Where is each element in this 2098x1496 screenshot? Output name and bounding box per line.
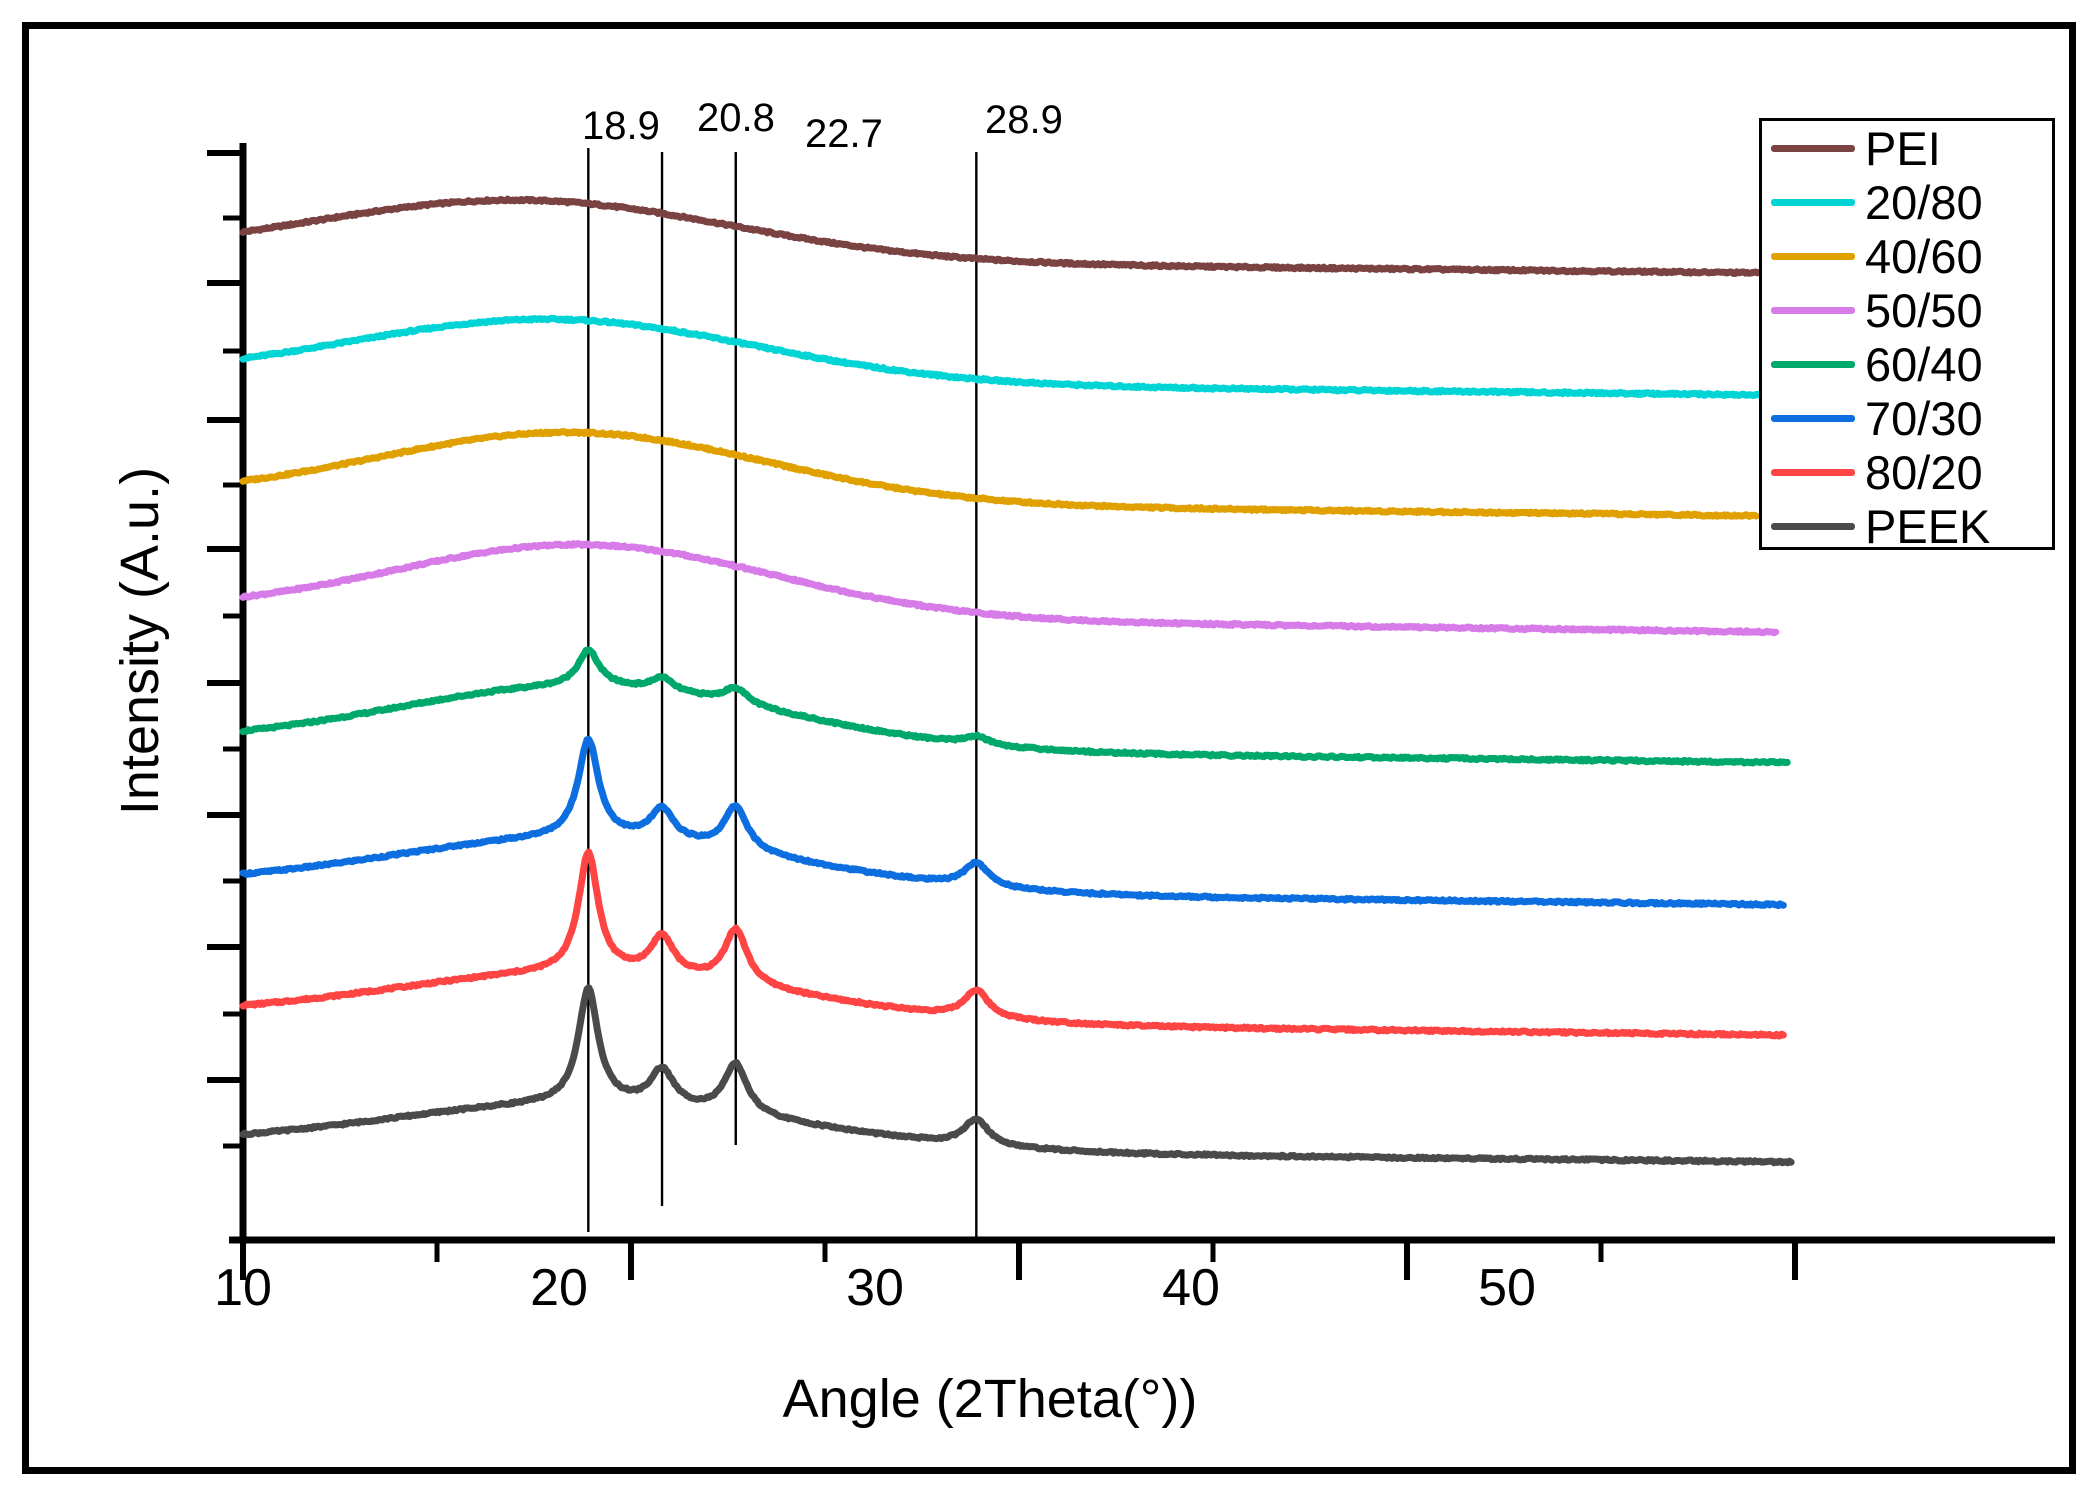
x-tick-label-50: 50 — [1457, 1258, 1557, 1318]
legend-item-label: 80/20 — [1865, 449, 1983, 496]
chart-legend: PEI20/8040/6050/5060/4070/3080/20PEEK — [1759, 118, 2055, 550]
legend-swatch-icon — [1771, 253, 1855, 260]
y-axis-title: Intensity (A.u.) — [109, 441, 171, 841]
legend-item-80-20[interactable]: 80/20 — [1762, 445, 2052, 499]
x-tick-label-10: 10 — [193, 1258, 293, 1318]
data-curve-20-80 — [243, 318, 1772, 396]
x-tick-label-20: 20 — [509, 1258, 609, 1318]
legend-item-label: 50/50 — [1865, 287, 1983, 334]
legend-item-40-60[interactable]: 40/60 — [1762, 229, 2052, 283]
peak-label-28-9: 28.9 — [985, 98, 1063, 143]
data-curve-60-40 — [243, 650, 1787, 763]
legend-item-label: 60/40 — [1865, 341, 1983, 388]
legend-item-pei[interactable]: PEI — [1762, 121, 2052, 175]
x-axis-title: Angle (2Theta(°)) — [640, 1368, 1340, 1430]
legend-item-50-50[interactable]: 50/50 — [1762, 283, 2052, 337]
legend-swatch-icon — [1771, 469, 1855, 476]
legend-swatch-icon — [1771, 361, 1855, 368]
legend-swatch-icon — [1771, 523, 1855, 530]
legend-item-20-80[interactable]: 20/80 — [1762, 175, 2052, 229]
data-curve-40-60 — [243, 432, 1756, 517]
legend-item-peek[interactable]: PEEK — [1762, 499, 2052, 553]
peak-label-20-8: 20.8 — [697, 96, 775, 141]
data-curve-80-20 — [243, 852, 1783, 1036]
xrd-figure-page: 18.9 20.8 22.7 28.9 10 20 30 40 50 Angle… — [0, 0, 2098, 1496]
legend-item-60-40[interactable]: 60/40 — [1762, 337, 2052, 391]
legend-item-label: 20/80 — [1865, 179, 1983, 226]
legend-swatch-icon — [1771, 199, 1855, 206]
legend-item-label: 40/60 — [1865, 233, 1983, 280]
legend-swatch-icon — [1771, 145, 1855, 152]
peak-label-18-9: 18.9 — [582, 104, 660, 149]
data-curve-70-30 — [243, 739, 1783, 905]
data-curve-pei — [243, 199, 1779, 274]
legend-item-label: PEEK — [1865, 503, 1990, 550]
legend-item-70-30[interactable]: 70/30 — [1762, 391, 2052, 445]
data-curve-50-50 — [243, 544, 1776, 633]
peak-label-22-7: 22.7 — [805, 112, 883, 157]
legend-item-label: PEI — [1865, 125, 1941, 172]
legend-swatch-icon — [1771, 415, 1855, 422]
x-tick-label-40: 40 — [1141, 1258, 1241, 1318]
x-tick-label-30: 30 — [825, 1258, 925, 1318]
legend-swatch-icon — [1771, 307, 1855, 314]
legend-item-label: 70/30 — [1865, 395, 1983, 442]
